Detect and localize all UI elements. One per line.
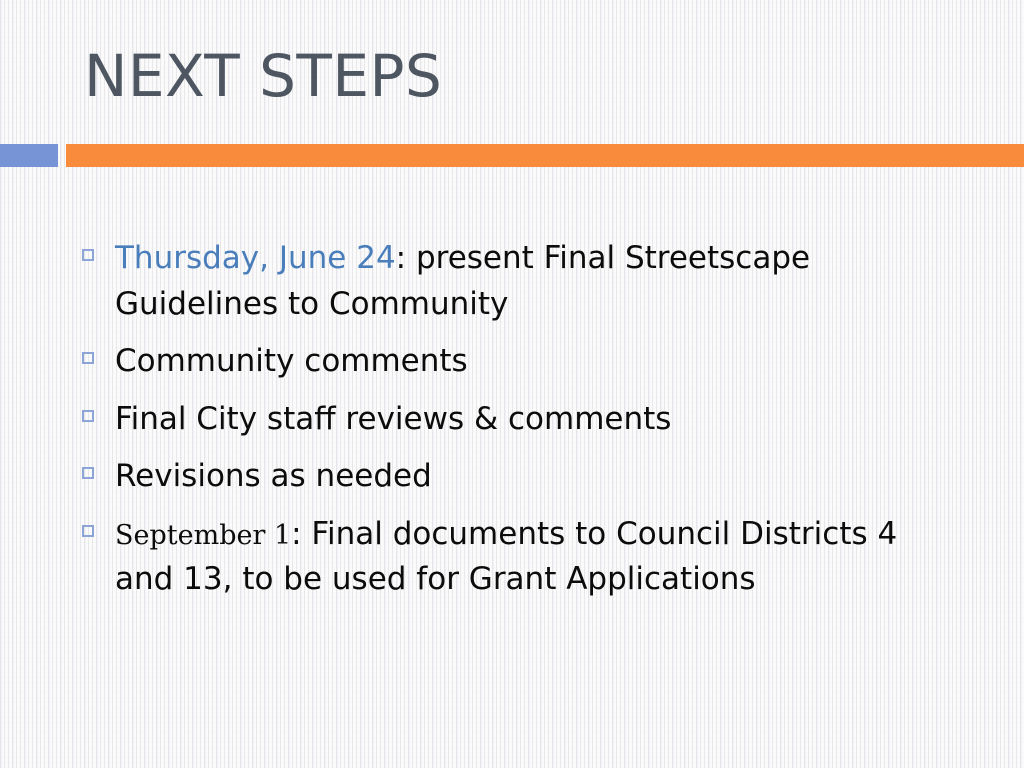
list-item-text: Community comments <box>115 339 960 385</box>
list-item: Revisions as needed <box>80 454 960 500</box>
accent-bar-left <box>0 144 58 167</box>
square-bullet-icon <box>82 249 94 261</box>
text-run-accent: Thursday, June 24 <box>115 240 396 276</box>
square-bullet-icon <box>82 352 94 364</box>
list-item-text: Thursday, June 24: present Final Streets… <box>115 236 960 327</box>
text-run-plain: Community comments <box>115 343 468 379</box>
page-title: NEXT STEPS <box>84 44 442 109</box>
text-run-plain: Final City staff reviews & comments <box>115 401 671 437</box>
square-bullet-icon <box>82 410 94 422</box>
list-item-text: September 1: Final documents to Council … <box>115 512 960 603</box>
bullet-list: Thursday, June 24: present Final Streets… <box>80 236 960 603</box>
list-item: Community comments <box>80 339 960 385</box>
list-item-text: Final City staff reviews & comments <box>115 397 960 443</box>
accent-bar-main <box>66 144 1024 167</box>
square-bullet-icon <box>82 467 94 479</box>
text-run-serif: September 1 <box>115 520 291 551</box>
list-item: September 1: Final documents to Council … <box>80 512 960 603</box>
list-item: Thursday, June 24: present Final Streets… <box>80 236 960 327</box>
list-item: Final City staff reviews & comments <box>80 397 960 443</box>
list-item-text: Revisions as needed <box>115 454 960 500</box>
slide-canvas: NEXT STEPS Thursday, June 24: present Fi… <box>0 0 1024 768</box>
text-run-plain: Revisions as needed <box>115 458 432 494</box>
square-bullet-icon <box>82 525 94 537</box>
